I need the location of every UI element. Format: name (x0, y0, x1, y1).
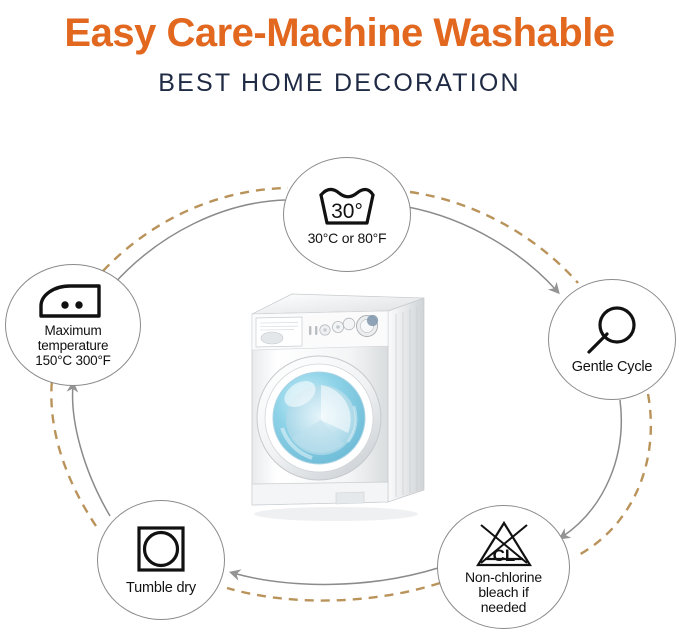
node-gentle-caption: Gentle Cycle (572, 360, 653, 375)
washing-machine-image (236, 278, 441, 523)
arrow-bleach-to-tumble (227, 568, 440, 601)
node-wash-temperature[interactable]: 30° 30°C or 80°F (283, 157, 411, 272)
arrow-tumble-to-iron (51, 380, 110, 526)
iron-two-dots-icon (37, 282, 109, 322)
node-gentle-cycle[interactable]: Gentle Cycle (548, 279, 676, 400)
node-wash-caption: 30°C or 80°F (308, 231, 387, 246)
node-iron-temperature[interactable]: Maximum temperature 150°C 300°F (5, 264, 141, 386)
node-bleach-caption: Non-chlorine bleach if needed (465, 570, 542, 615)
node-tumble-caption: Tumble dry (126, 581, 196, 596)
node-tumble-dry[interactable]: Tumble dry (97, 500, 225, 620)
wash-tub-30-icon: 30° (316, 184, 378, 228)
arrow-gentle-to-bleach (562, 394, 651, 556)
non-chlorine-bleach-icon: CL (473, 519, 535, 569)
arrow-wash-to-gentle (408, 192, 578, 291)
node-non-chlorine-bleach[interactable]: CL Non-chlorine bleach if needed (437, 505, 570, 629)
care-cycle-diagram: 30° 30°C or 80°F Maximum temperature 150… (0, 0, 679, 634)
node-iron-caption: Maximum temperature 150°C 300°F (35, 323, 110, 368)
svg-text:CL: CL (492, 546, 515, 565)
tumble-dry-icon (136, 525, 186, 573)
arrow-iron-to-wash (103, 188, 288, 286)
gentle-cycle-icon (584, 304, 640, 356)
svg-text:30°: 30° (331, 200, 363, 223)
